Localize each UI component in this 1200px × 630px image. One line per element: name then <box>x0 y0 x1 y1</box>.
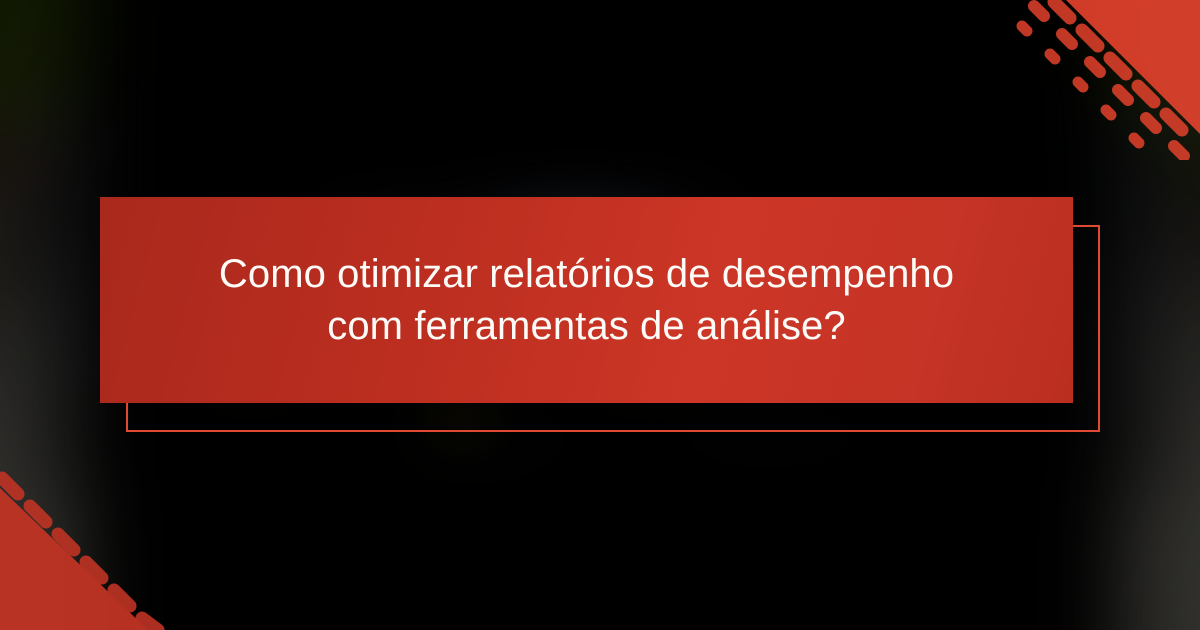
title-banner: Como otimizar relatórios de desempenho c… <box>100 197 1073 403</box>
social-card: Como otimizar relatórios de desempenho c… <box>0 0 1200 630</box>
page-title: Como otimizar relatórios de desempenho c… <box>100 248 1073 352</box>
